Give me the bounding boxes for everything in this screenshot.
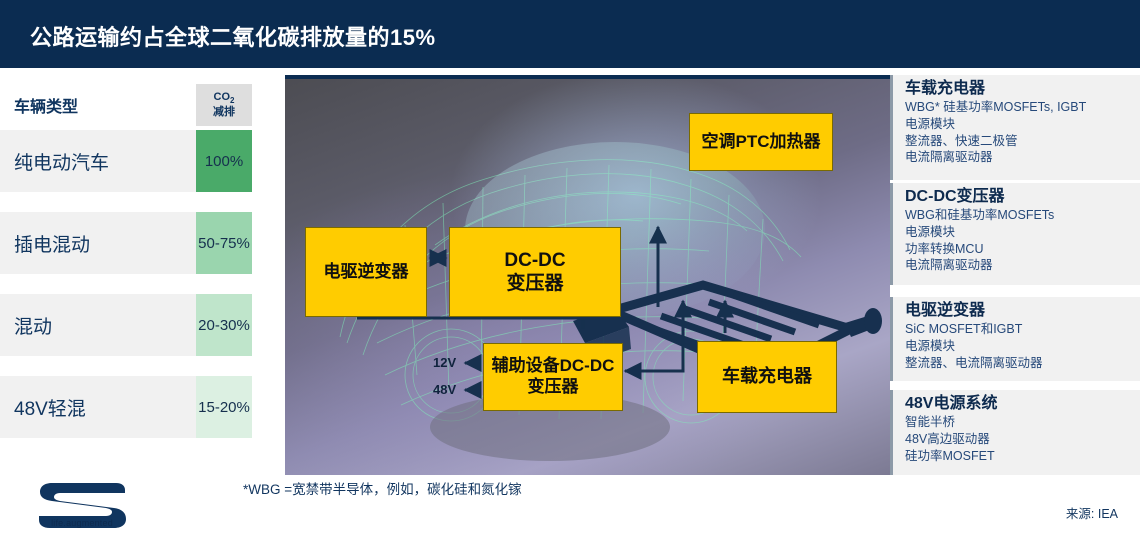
section-item: 48V高边驱动器 — [905, 431, 1140, 448]
cell-vehicle-type: 48V轻混 — [0, 376, 196, 438]
cell-vehicle-type: 混动 — [0, 294, 196, 356]
callout-ptc-heater-label: 空调PTC加热器 — [702, 132, 821, 153]
voltage-label-48v: 48V — [433, 382, 456, 397]
callout-dc-dc-converter[interactable]: DC-DC 变压器 — [449, 227, 621, 317]
source-attribution: 来源: IEA — [1066, 503, 1118, 522]
section-item: WBG和硅基功率MOSFETs — [905, 207, 1140, 224]
ev-architecture-diagram: 空调PTC加热器 电驱逆变器 DC-DC 变压器 辅助设备DC-DC变压器 车载… — [285, 75, 890, 475]
co2-reduction-table: 车辆类型 CO2 减排 纯电动汽车 100% 插电混动 50-75% 混动 20… — [0, 84, 252, 456]
table-row: 48V轻混 15-20% — [0, 376, 252, 438]
callout-onboard-charger[interactable]: 车载充电器 — [697, 341, 837, 413]
st-logo-tagline: life.augmented — [30, 518, 134, 528]
co2-sublabel: 减排 — [213, 106, 235, 119]
section-item: WBG* 硅基功率MOSFETs, IGBT — [905, 99, 1140, 116]
section-title: DC-DC变压器 — [905, 187, 1140, 206]
callout-dc-dc-line2: 变压器 — [506, 272, 563, 295]
component-list-panel: 车载充电器 WBG* 硅基功率MOSFETs, IGBT 电源模块 整流器、快速… — [890, 75, 1140, 475]
section-item: 电源模块 — [905, 224, 1140, 241]
callout-auxiliary-dc-dc-label: 辅助设备DC-DC变压器 — [488, 356, 618, 397]
footnote-wbg-definition: *WBG =宽禁带半导体，例如，碳化硅和氮化镓 — [243, 478, 522, 498]
cell-co2-value: 100% — [196, 130, 252, 192]
title-bar: 公路运输约占全球二氧化碳排放量的15% — [0, 0, 1140, 68]
co2-label: CO2 — [214, 91, 235, 105]
cell-co2-value: 20-30% — [196, 294, 252, 356]
section-item: 整流器、快速二极管 — [905, 133, 1140, 150]
table-header-row: 车辆类型 CO2 减排 — [0, 84, 252, 126]
voltage-label-12v: 12V — [433, 355, 456, 370]
callout-dc-dc-line1: DC-DC — [504, 249, 565, 272]
table-row: 混动 20-30% — [0, 294, 252, 356]
cell-vehicle-type: 纯电动汽车 — [0, 130, 196, 192]
section-item: 电流隔离驱动器 — [905, 149, 1140, 166]
panel-section-traction-inverter: 电驱逆变器 SiC MOSFET和IGBT 电源模块 整流器、电流隔离驱动器 — [890, 297, 1140, 381]
table-row: 插电混动 50-75% — [0, 212, 252, 274]
cell-co2-value: 50-75% — [196, 212, 252, 274]
header-cell-co2-reduction: CO2 减排 — [196, 84, 252, 126]
callout-auxiliary-dc-dc[interactable]: 辅助设备DC-DC变压器 — [483, 343, 623, 411]
section-title: 车载充电器 — [905, 79, 1140, 98]
panel-section-onboard-charger: 车载充电器 WBG* 硅基功率MOSFETs, IGBT 电源模块 整流器、快速… — [890, 75, 1140, 180]
callout-onboard-charger-label: 车载充电器 — [722, 366, 812, 388]
section-title: 电驱逆变器 — [905, 301, 1140, 320]
panel-section-48v-power-system: 48V电源系统 智能半桥 48V高边驱动器 硅功率MOSFET — [890, 390, 1140, 475]
cell-co2-value: 15-20% — [196, 376, 252, 438]
section-item: 电流隔离驱动器 — [905, 257, 1140, 274]
section-item: 整流器、电流隔离驱动器 — [905, 355, 1140, 372]
section-item: 电源模块 — [905, 116, 1140, 133]
section-item: 电源模块 — [905, 338, 1140, 355]
section-item: 智能半桥 — [905, 414, 1140, 431]
page-title: 公路运输约占全球二氧化碳排放量的15% — [30, 20, 436, 52]
section-item: 功率转换MCU — [905, 241, 1140, 258]
panel-section-dc-dc-converter: DC-DC变压器 WBG和硅基功率MOSFETs 电源模块 功率转换MCU 电流… — [890, 183, 1140, 285]
callout-traction-inverter-label: 电驱逆变器 — [324, 262, 409, 283]
callout-traction-inverter[interactable]: 电驱逆变器 — [305, 227, 427, 317]
section-title: 48V电源系统 — [905, 394, 1140, 413]
section-item: 硅功率MOSFET — [905, 448, 1140, 465]
table-row: 纯电动汽车 100% — [0, 130, 252, 192]
header-cell-vehicle-type: 车辆类型 — [0, 84, 196, 126]
section-item: SiC MOSFET和IGBT — [905, 321, 1140, 338]
callout-ptc-heater[interactable]: 空调PTC加热器 — [689, 113, 833, 171]
cell-vehicle-type: 插电混动 — [0, 212, 196, 274]
